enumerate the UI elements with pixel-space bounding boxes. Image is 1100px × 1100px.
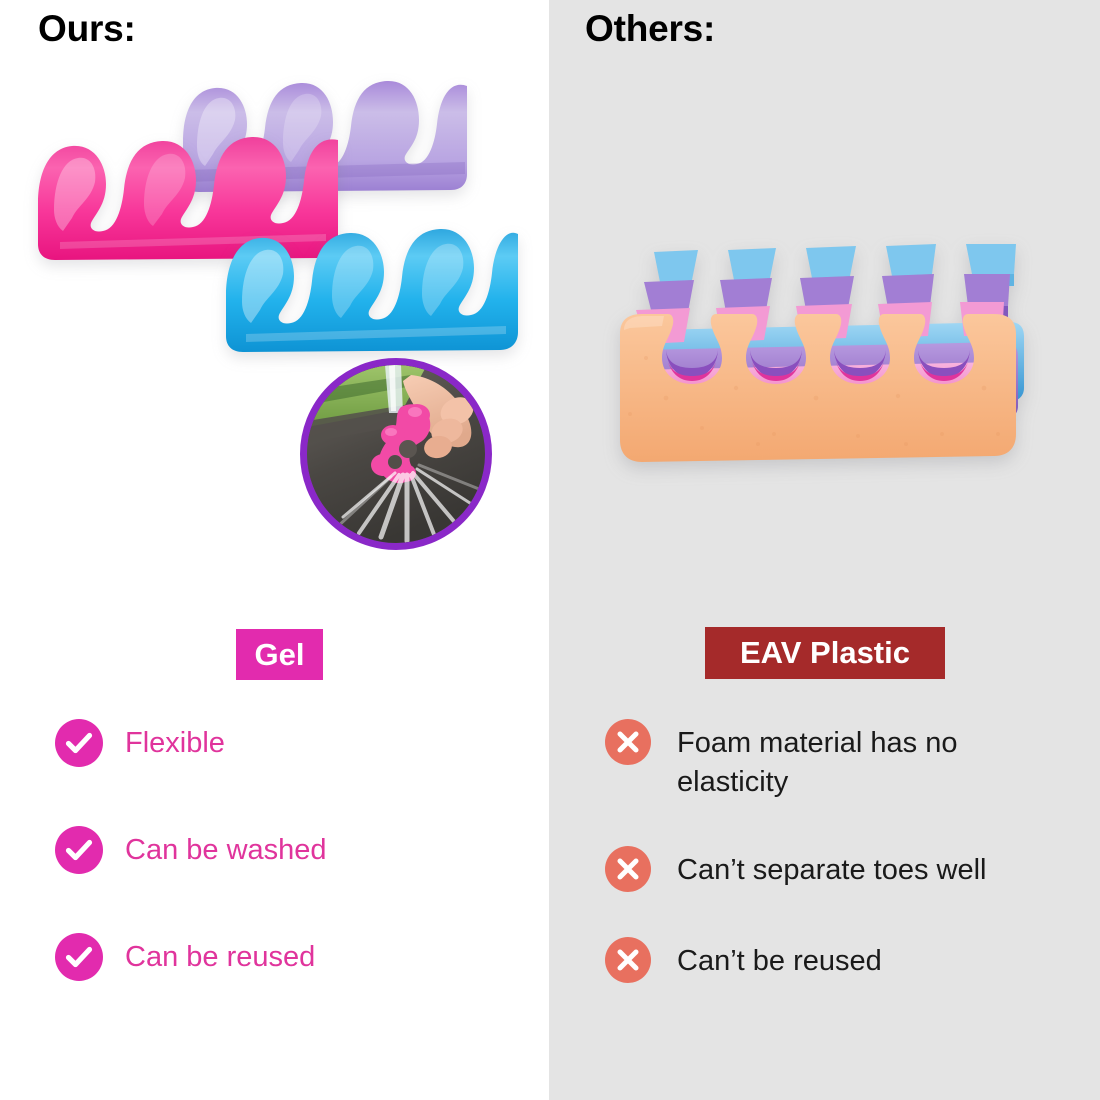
check-circle-icon	[55, 933, 103, 981]
gel-separator-blue	[218, 198, 528, 358]
check-circle-icon	[55, 826, 103, 874]
feature-row-can-be-reused: Can be reused	[55, 932, 495, 981]
material-badge-gel: Gel	[236, 629, 323, 680]
cross-circle-icon	[605, 937, 651, 983]
material-badge-eav-plastic: EAV Plastic	[705, 627, 945, 679]
cross-circle-icon	[605, 846, 651, 892]
ours-heading: Ours:	[38, 8, 136, 50]
ours-panel: Ours:	[0, 0, 549, 1100]
feature-label: Can be reused	[103, 932, 315, 977]
gel-toe-separators-image	[20, 48, 520, 378]
washing-under-water-photo	[300, 358, 492, 550]
feature-row-cannot-separate-toes: Can’t separate toes well	[605, 845, 1075, 892]
product-comparison-infographic: Ours:	[0, 0, 1100, 1100]
feature-label: Can be washed	[103, 825, 327, 870]
feature-row-no-elasticity: Foam material has no elasticity	[605, 718, 1075, 801]
cons-list: Foam material has no elasticity Can’t se…	[605, 718, 1075, 1027]
feature-label: Flexible	[103, 718, 225, 763]
feature-label: Can’t separate toes well	[651, 845, 987, 890]
feature-row-flexible: Flexible	[55, 718, 495, 767]
feature-label: Can’t be reused	[651, 936, 882, 981]
feature-row-cannot-be-reused: Can’t be reused	[605, 936, 1075, 983]
check-circle-icon	[55, 719, 103, 767]
feature-label: Foam material has no elasticity	[651, 718, 1075, 801]
others-heading: Others:	[585, 8, 715, 50]
cross-circle-icon	[605, 719, 651, 765]
feature-row-can-be-washed: Can be washed	[55, 825, 495, 874]
foam-toe-separators-image	[606, 238, 1056, 478]
pros-list: Flexible Can be washed Can be reused	[55, 718, 495, 1039]
